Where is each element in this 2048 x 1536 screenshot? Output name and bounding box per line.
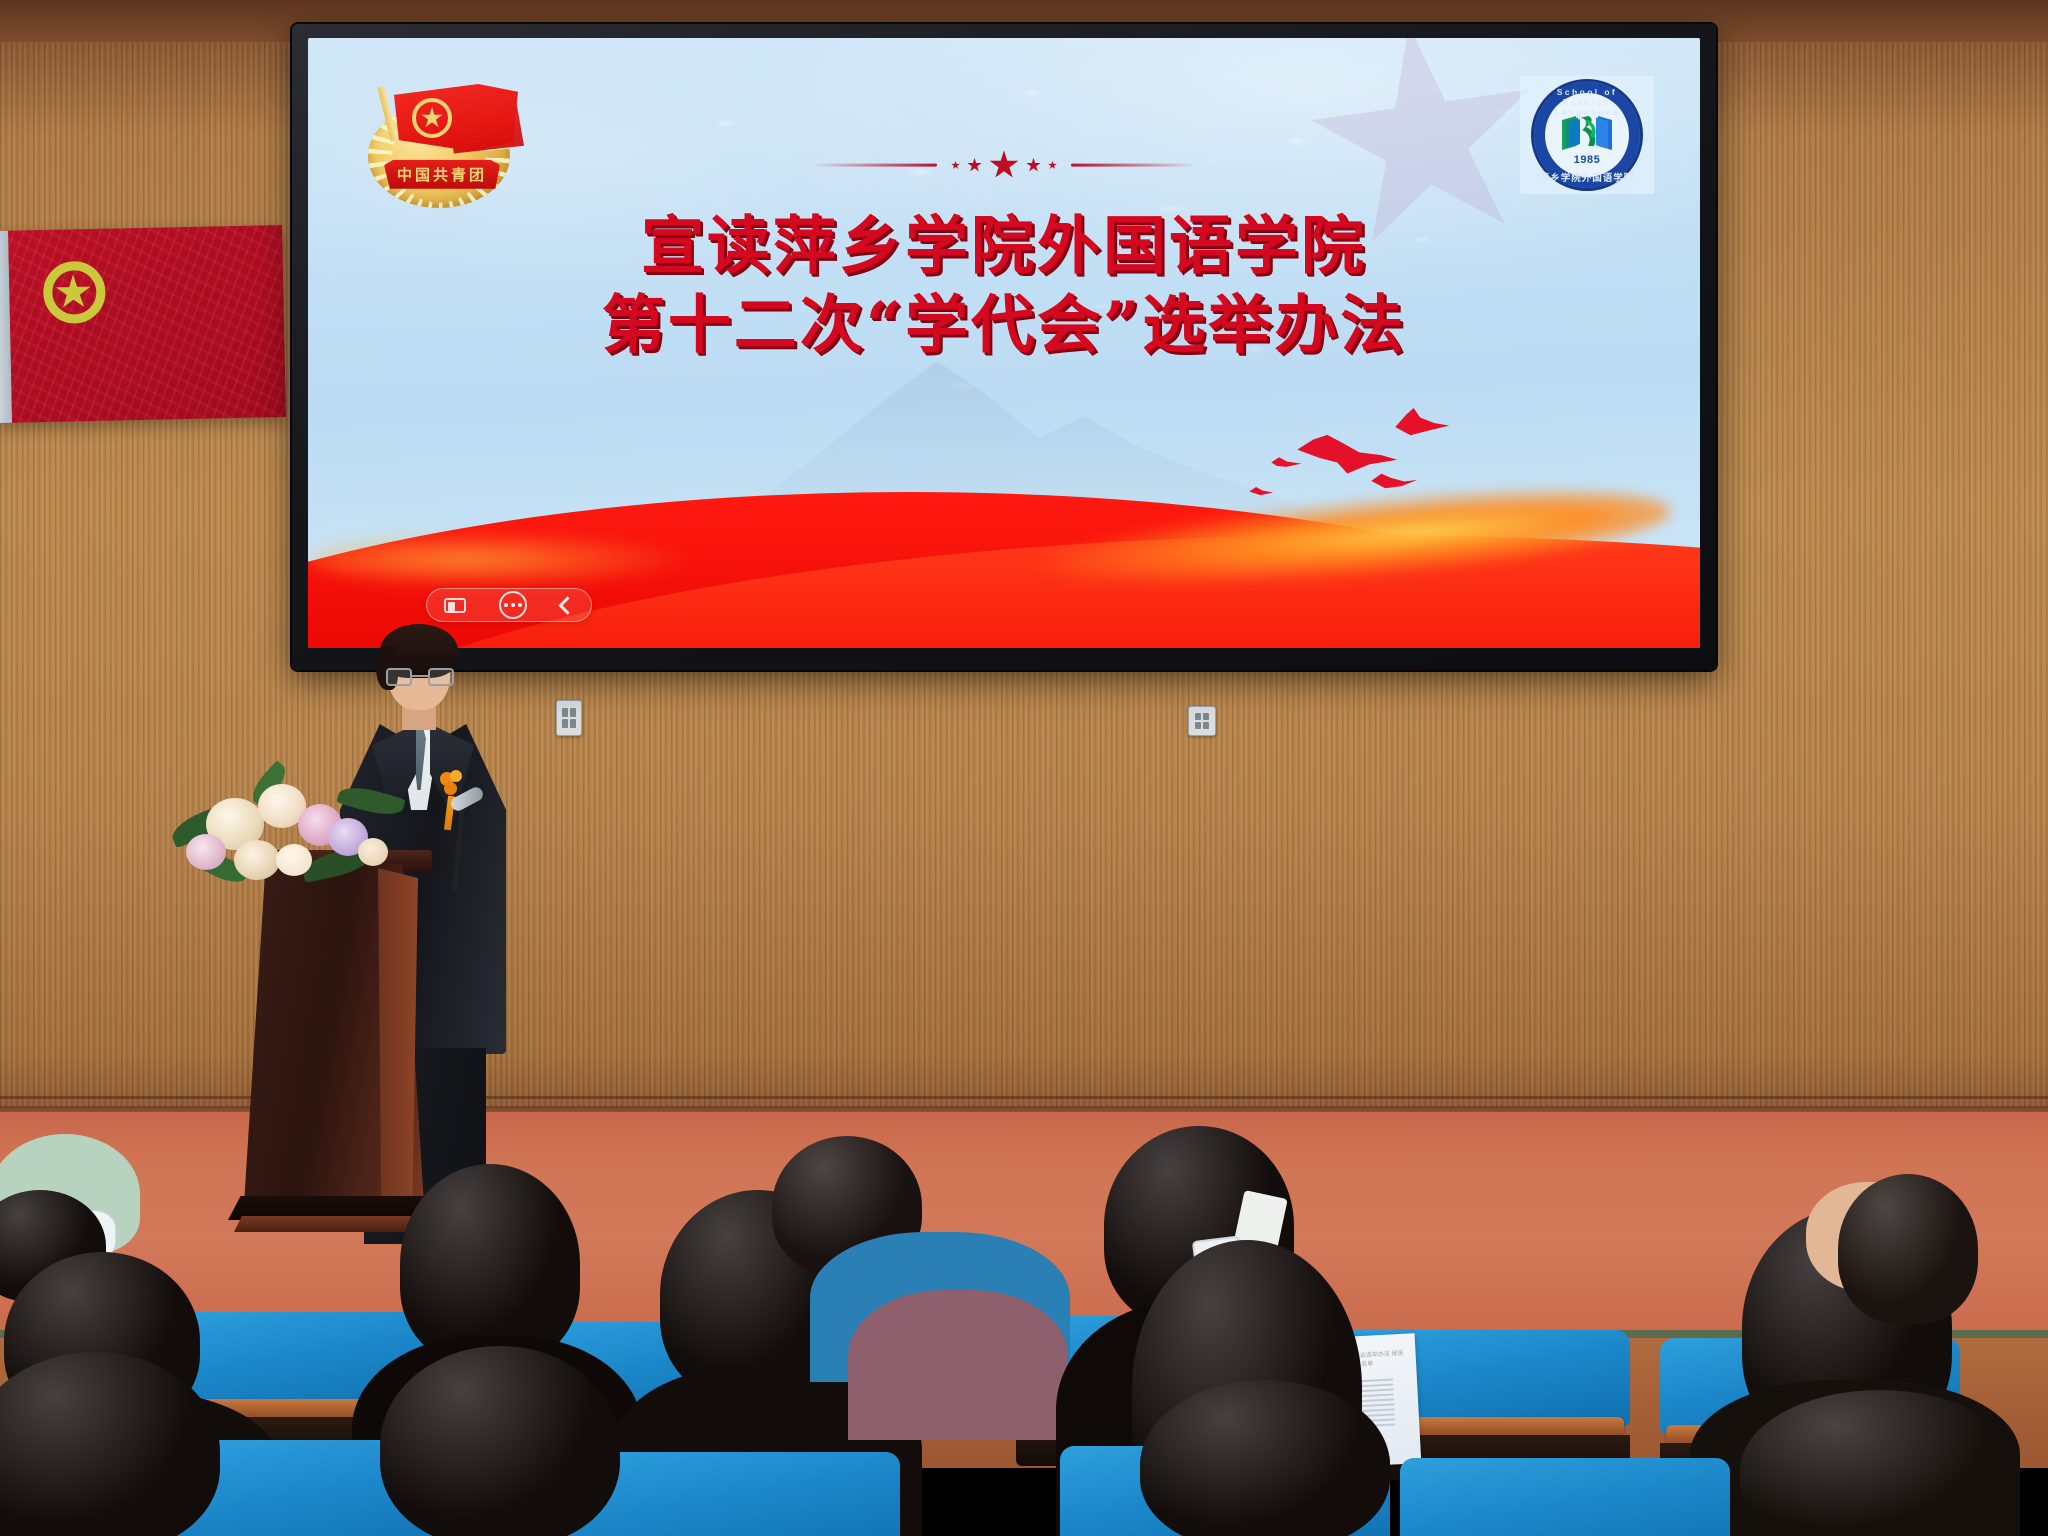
audience-member [1838, 1174, 1978, 1324]
wall-power-outlet-right [1188, 706, 1216, 736]
star-in-circle-icon [412, 98, 452, 138]
slide-title-block: 宣读萍乡学院外国语学院 第十二次“学代会”选举办法 [308, 150, 1700, 365]
audience-member [1140, 1380, 1390, 1536]
divider-line-left [811, 164, 937, 167]
audience-area: 第十二次学代会选举办法 候选人名单 [0, 1140, 2048, 1536]
led-display-bezel: 中国共青团 School of Foreign Languages [292, 24, 1716, 670]
audience-member [400, 1164, 580, 1364]
divider-line-right [1071, 164, 1197, 167]
slide-title-line-1: 宣读萍乡学院外国语学院 [308, 206, 1700, 285]
flower-arrangement [170, 760, 410, 890]
flag-hoist-band [0, 231, 12, 423]
auditorium-photo: 中国共青团 School of Foreign Languages [0, 0, 2048, 1536]
audience-member [380, 1346, 620, 1536]
eyeglasses-icon [386, 668, 454, 686]
five-stars-divider [308, 150, 1700, 180]
open-book-icon [1558, 112, 1616, 152]
back-chevron-icon[interactable] [558, 596, 576, 614]
slide-title-line-2: 第十二次“学代会”选举办法 [308, 286, 1700, 365]
more-options-icon[interactable] [499, 591, 527, 619]
auditorium-seat[interactable] [1400, 1458, 1730, 1536]
wall-power-outlet-left [556, 700, 582, 736]
communist-youth-league-flag [0, 225, 286, 423]
audience-member [1740, 1390, 2020, 1536]
divider-stars [951, 150, 1057, 180]
presentation-slide: 中国共青团 School of Foreign Languages [308, 38, 1700, 648]
yellow-star-circle-icon [43, 261, 106, 324]
audience-shoulders [848, 1290, 1068, 1440]
presentation-floating-toolbar[interactable] [426, 588, 592, 622]
ribbon-glow-left [308, 530, 698, 589]
screen-share-icon[interactable] [444, 598, 466, 613]
